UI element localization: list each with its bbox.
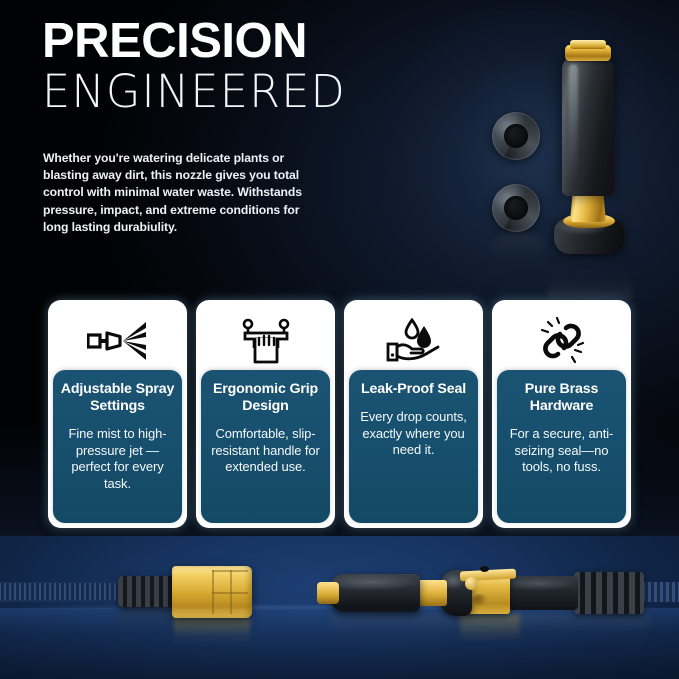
feature-card: Adjustable Spray Settings Fine mist to h… — [48, 300, 187, 528]
nozzle-highlight — [569, 64, 578, 184]
hero-product-nozzle — [470, 18, 670, 278]
hose-left-weave — [0, 583, 122, 600]
feature-card-description: For a secure, anti-seizing seal—no tools… — [504, 426, 619, 476]
strain-relief-reflection — [118, 607, 176, 631]
assembly-gold-reflection — [460, 614, 520, 642]
rubber-washer-ring-icon — [492, 184, 540, 232]
feature-card-panel: Leak-Proof Seal Every drop counts, exact… — [349, 370, 478, 523]
feature-card-description: Every drop counts, exactly where you nee… — [356, 409, 471, 459]
nozzle-reflection — [548, 254, 632, 298]
hose-strain-relief-left — [118, 576, 176, 607]
feature-card: Pure Brass Hardware For a secure, anti-s… — [492, 300, 631, 528]
feature-card-panel: Pure Brass Hardware For a secure, anti-s… — [497, 370, 626, 523]
nozzle-barrel-right — [506, 576, 578, 610]
feature-card-panel: Ergonomic Grip Design Comfortable, slip-… — [201, 370, 330, 523]
feature-card-title: Pure Brass Hardware — [504, 381, 619, 415]
hose-strain-relief-right — [574, 572, 644, 614]
brass-connector — [417, 580, 447, 606]
body-copy: Whether you're watering delicate plants … — [43, 150, 315, 236]
nozzle-assembly-right — [300, 564, 679, 624]
product-strip — [0, 536, 679, 679]
headline-block: PRECISION ENGINEERED — [42, 16, 422, 118]
feature-card-description: Fine mist to high-pressure jet — perfect… — [60, 426, 175, 492]
nozzle-gold-top-cap — [570, 40, 606, 49]
feature-card-list: Adjustable Spray Settings Fine mist to h… — [48, 300, 633, 528]
product-marketing-poster: PRECISION ENGINEERED Whether you're wate… — [0, 0, 679, 679]
hose-right — [642, 582, 679, 602]
valve-port-hole — [480, 566, 489, 572]
feature-card-title: Leak-Proof Seal — [356, 381, 471, 398]
brass-coupling-grooves — [212, 570, 248, 614]
valve-lever-pin — [465, 577, 478, 590]
brass-coupling-reflection — [174, 618, 250, 648]
feature-card-title: Ergonomic Grip Design — [208, 381, 323, 415]
feature-card-panel: Adjustable Spray Settings Fine mist to h… — [53, 370, 182, 523]
feature-card: Leak-Proof Seal Every drop counts, exact… — [344, 300, 483, 528]
brass-tip — [317, 582, 339, 604]
headline-line-2: ENGINEERED — [42, 66, 418, 118]
feature-card: Ergonomic Grip Design Comfortable, slip-… — [196, 300, 335, 528]
washer-reflection — [490, 232, 546, 262]
rubber-washer-ring-icon — [492, 112, 540, 160]
feature-card-title: Adjustable Spray Settings — [60, 381, 175, 415]
rubber-grip — [330, 574, 420, 612]
headline-line-1: PRECISION — [42, 16, 422, 66]
feature-card-description: Comfortable, slip-resistant handle for e… — [208, 426, 323, 476]
valve-stamp-mark — [472, 594, 488, 606]
